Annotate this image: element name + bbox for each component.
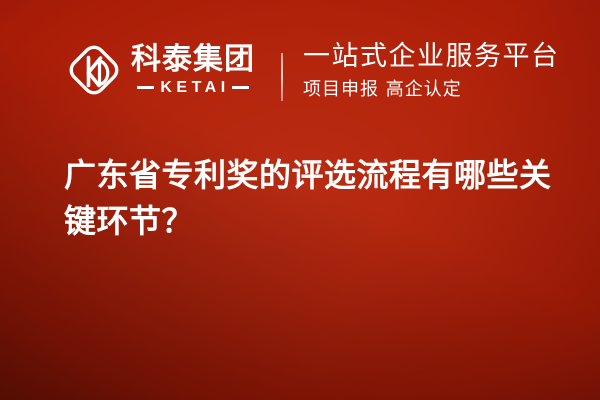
tagline-primary: 一站式企业服务平台: [303, 40, 573, 73]
brand-name-en-row: KETAI: [131, 78, 255, 97]
promo-banner: 科泰集团 KETAI 一站式企业服务平台 项目申报 高企认定 广东省专利奖的评选…: [0, 0, 600, 400]
brand-name-en: KETAI: [160, 78, 229, 97]
brand-rule-left-icon: [137, 86, 154, 89]
headline-title: 广东省专利奖的评选流程有哪些关键环节？: [64, 152, 560, 244]
vertical-divider-icon: [281, 53, 283, 101]
brand-text: 科泰集团 KETAI: [131, 43, 255, 97]
brand-rule-right-icon: [232, 86, 249, 89]
brand-name-cn: 科泰集团: [131, 43, 255, 77]
tagline-block: 一站式企业服务平台 项目申报 高企认定: [303, 40, 573, 102]
ketai-kd-monogram-icon: [66, 41, 122, 99]
tagline-secondary: 项目申报 高企认定: [303, 78, 573, 102]
brand-lockup: 科泰集团 KETAI: [66, 36, 255, 104]
